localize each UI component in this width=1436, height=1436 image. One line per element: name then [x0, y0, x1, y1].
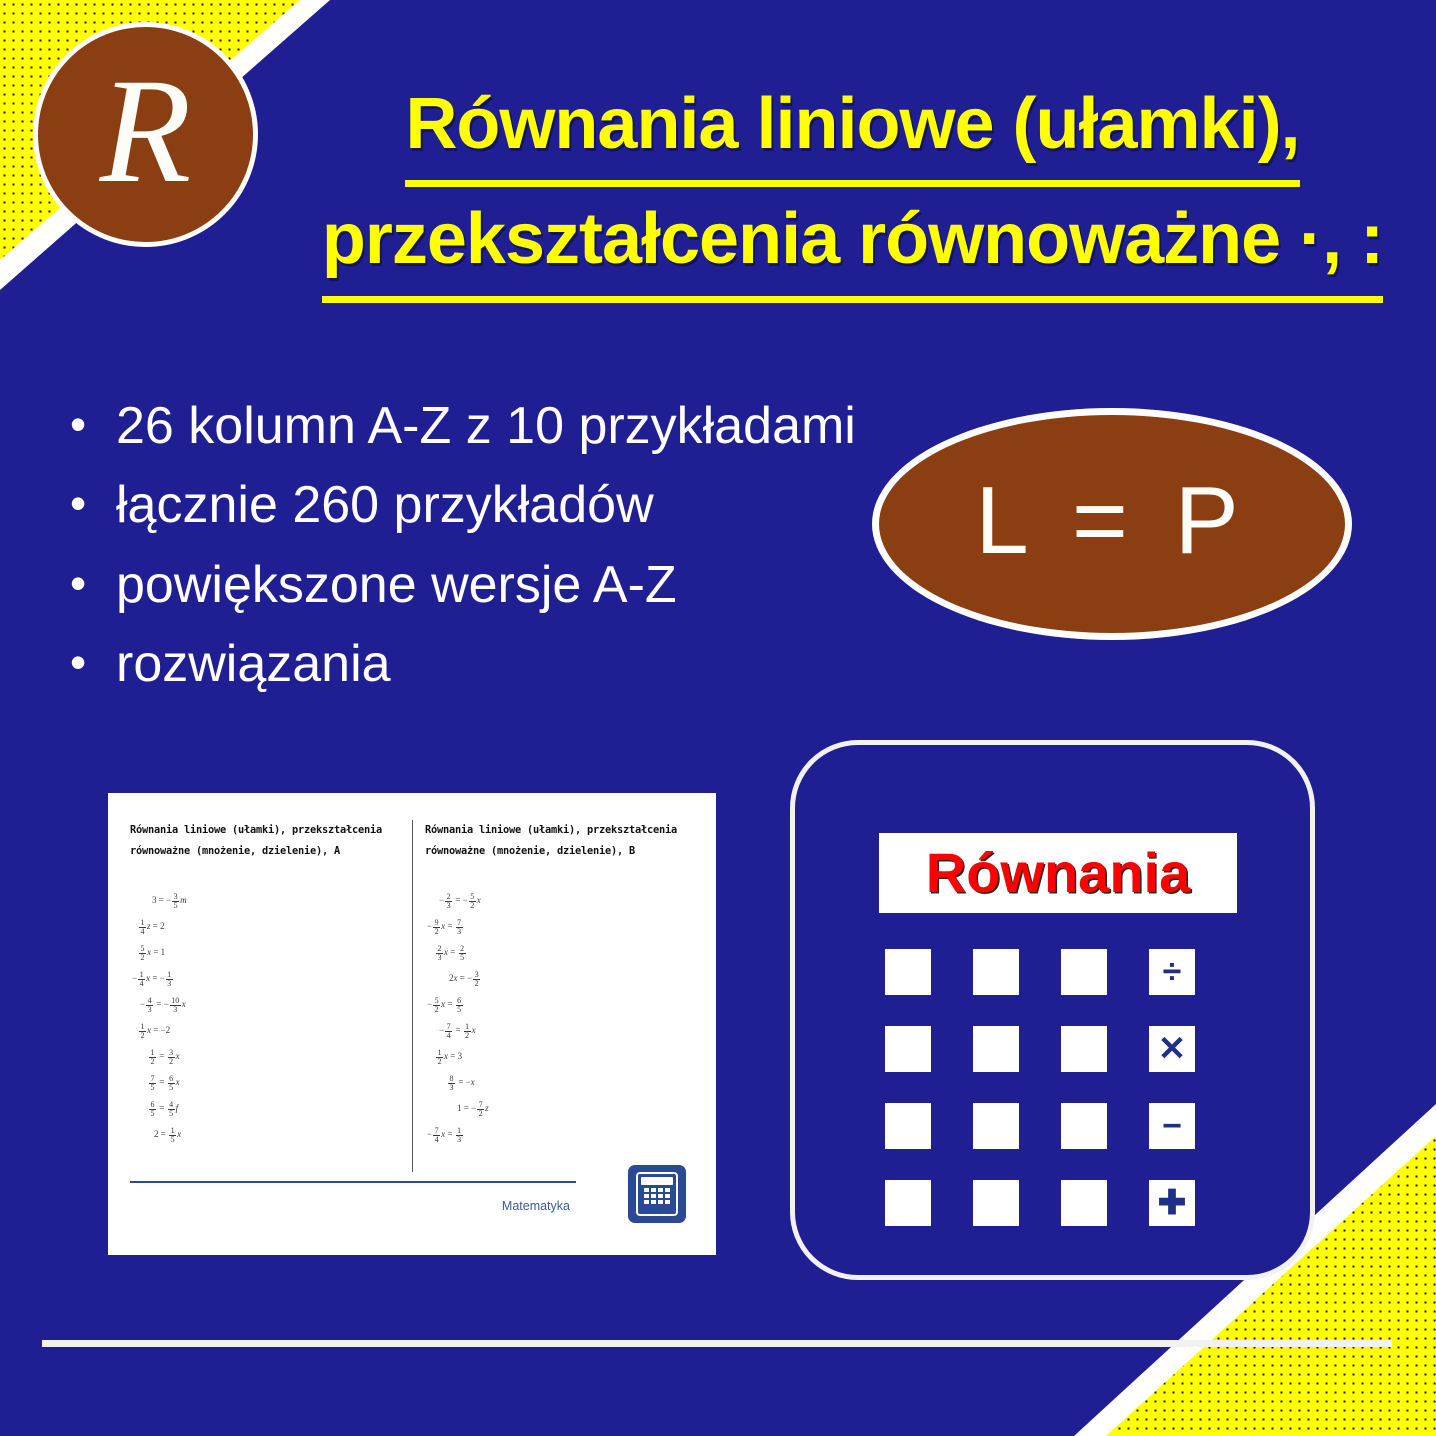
calculator-key-multiply[interactable]: ✕	[1149, 1026, 1195, 1072]
calculator-icon	[628, 1165, 686, 1223]
equation-row: 75 = 65x	[130, 1069, 402, 1095]
equation-row: −74x = 13	[425, 1121, 684, 1147]
calculator-key-blank[interactable]	[1061, 949, 1107, 995]
equation-row: 2x = −32	[425, 965, 684, 991]
equation-row: −92x = 73	[425, 913, 684, 939]
page-title-line-1: Równania liniowe (ułamki),	[290, 72, 1415, 187]
calculator-key-blank[interactable]	[973, 949, 1019, 995]
equation-row: −23 = −52x	[425, 887, 684, 913]
bullet-text: rozwiązania	[116, 633, 870, 696]
bullet-text: powiększone wersje A-Z	[116, 554, 870, 617]
worksheet-columns: Równania liniowe (ułamki), przekształcen…	[130, 820, 694, 1172]
bullet-marker-icon: •	[70, 395, 116, 454]
calculator-key-plus[interactable]: ✚	[1149, 1180, 1195, 1226]
worksheet-heading-line-1: Równania liniowe (ułamki), przekształcen…	[130, 820, 402, 841]
calculator-key-blank[interactable]	[885, 1026, 931, 1072]
calculator-icon-keys	[644, 1188, 670, 1204]
worksheet-column-b: Równania liniowe (ułamki), przekształcen…	[412, 820, 694, 1172]
calculator-key-blank[interactable]	[973, 1026, 1019, 1072]
page-title: Równania liniowe (ułamki), przekształcen…	[290, 72, 1415, 303]
calculator-display: Równania	[879, 833, 1237, 913]
equation-row: 83 = −x	[425, 1069, 684, 1095]
list-item: • 26 kolumn A-Z z 10 przykładami	[70, 395, 870, 458]
worksheet-footer: Matematyka	[130, 1173, 694, 1237]
equation-row: 23x = 25	[425, 939, 684, 965]
list-item: • rozwiązania	[70, 633, 870, 696]
worksheet-preview: Równania liniowe (ułamki), przekształcen…	[108, 793, 716, 1255]
equation-balance-badge: L = P	[872, 408, 1352, 640]
bullet-marker-icon: •	[70, 633, 116, 692]
calculator-key-blank[interactable]	[1061, 1103, 1107, 1149]
calculator-key-divide[interactable]: ÷	[1149, 949, 1195, 995]
equation-row: 3 = −35m	[130, 887, 402, 913]
footer-divider	[42, 1340, 1392, 1347]
slide-canvas: R Równania liniowe (ułamki), przekształc…	[0, 0, 1436, 1436]
calculator-key-blank[interactable]	[885, 1180, 931, 1226]
equation-row: 12x = 3	[425, 1043, 684, 1069]
bullet-marker-icon: •	[70, 554, 116, 613]
brand-badge: R	[33, 22, 258, 247]
equation-row: 2 = 15x	[130, 1121, 402, 1147]
bullet-text: łącznie 260 przykładów	[116, 474, 870, 537]
equation-row: −74 = 12x	[425, 1017, 684, 1043]
equation-row: 14z = 2	[130, 913, 402, 939]
worksheet-footer-label: Matematyka	[502, 1199, 570, 1213]
calculator-key-blank[interactable]	[1061, 1026, 1107, 1072]
bullet-text: 26 kolumn A-Z z 10 przykładami	[116, 395, 870, 458]
page-title-line-1-text: Równania liniowe (ułamki),	[405, 72, 1299, 187]
worksheet-footer-divider	[130, 1181, 576, 1183]
worksheet-equations-b: −23 = −52x −92x = 73 23x = 25 2x = −32 −…	[425, 887, 684, 1147]
equation-balance-text: L = P	[975, 473, 1248, 569]
calculator-key-blank[interactable]	[973, 1180, 1019, 1226]
bullet-marker-icon: •	[70, 474, 116, 533]
calculator-graphic: Równania ÷ ✕ − ✚	[790, 740, 1315, 1280]
calculator-key-blank[interactable]	[885, 1103, 931, 1149]
worksheet-column-a: Równania liniowe (ułamki), przekształcen…	[130, 820, 412, 1172]
list-item: • łącznie 260 przykładów	[70, 474, 870, 537]
page-title-line-2-text: przekształcenia równoważne ·, :	[322, 187, 1383, 302]
worksheet-equations-a: 3 = −35m 14z = 2 52x = 1 −14x = −13 −43 …	[130, 887, 402, 1147]
feature-bullet-list: • 26 kolumn A-Z z 10 przykładami • łączn…	[70, 395, 870, 713]
calculator-display-text: Równania	[926, 845, 1190, 901]
equation-row: −52x = 65	[425, 991, 684, 1017]
calculator-icon-body	[636, 1172, 678, 1216]
calculator-keypad: ÷ ✕ − ✚	[885, 949, 1235, 1227]
worksheet-preview-page: Równania liniowe (ułamki), przekształcen…	[108, 793, 716, 1255]
equation-row: 65 = 45f	[130, 1095, 402, 1121]
calculator-key-blank[interactable]	[973, 1103, 1019, 1149]
calculator-key-blank[interactable]	[885, 949, 931, 995]
calculator-key-blank[interactable]	[1061, 1180, 1107, 1226]
calculator-icon-screen	[641, 1177, 673, 1185]
worksheet-heading-line-2: równoważne (mnożenie, dzielenie), A	[130, 841, 402, 862]
list-item: • powiększone wersje A-Z	[70, 554, 870, 617]
worksheet-heading-line-2: równoważne (mnożenie, dzielenie), B	[425, 841, 684, 862]
calculator-key-minus[interactable]: −	[1149, 1103, 1195, 1149]
equation-row: 12x = −2	[130, 1017, 402, 1043]
worksheet-heading-line-1: Równania liniowe (ułamki), przekształcen…	[425, 820, 684, 841]
equation-row: −14x = −13	[130, 965, 402, 991]
equation-row: 12 = 32x	[130, 1043, 402, 1069]
equation-row: 52x = 1	[130, 939, 402, 965]
brand-letter: R	[100, 56, 192, 206]
equation-row: −43 = −103x	[130, 991, 402, 1017]
equation-row: 1 = −72z	[425, 1095, 684, 1121]
page-title-line-2: przekształcenia równoważne ·, :	[290, 187, 1415, 302]
